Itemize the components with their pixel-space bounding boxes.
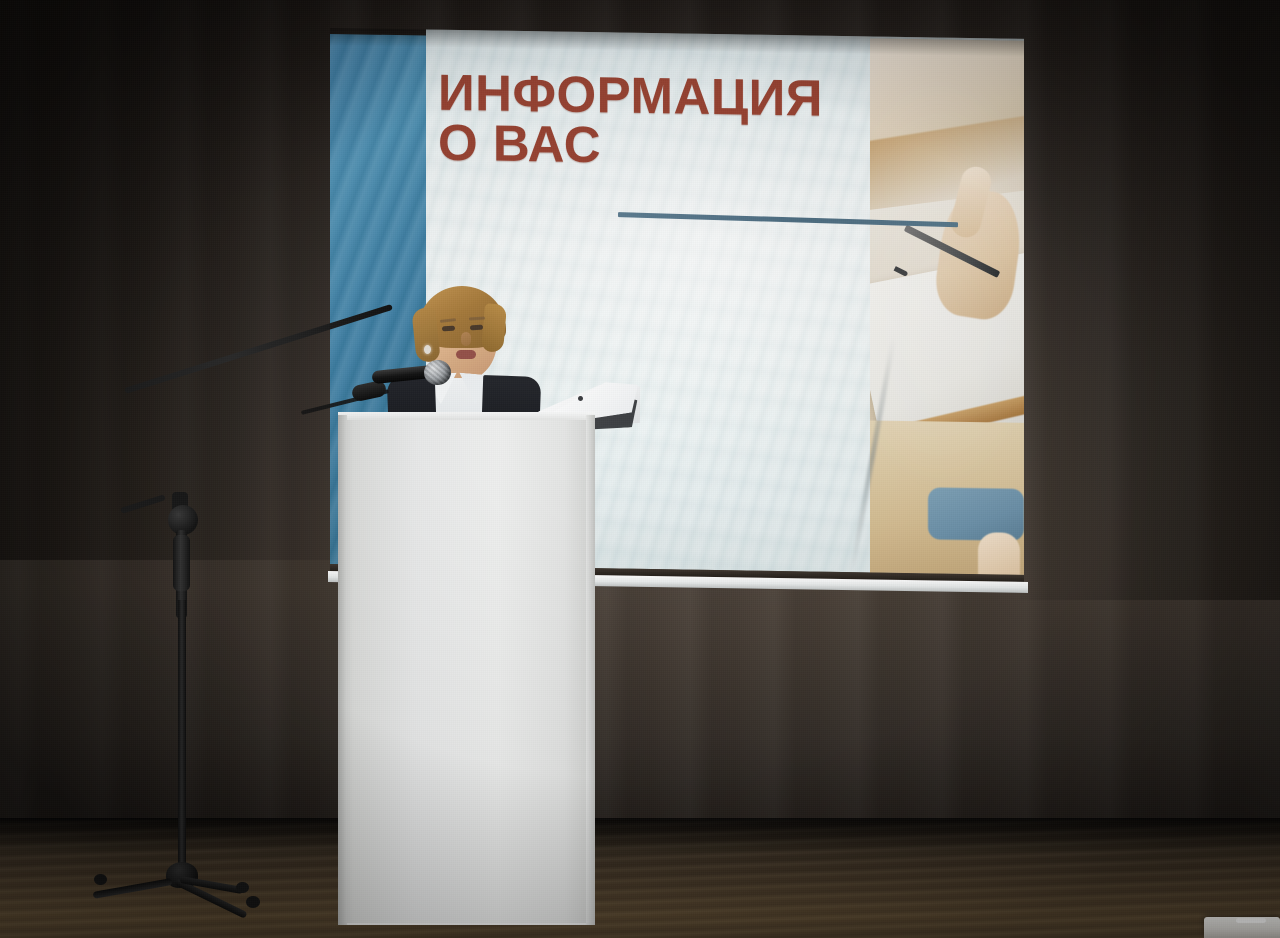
- podium: [338, 415, 595, 925]
- speaker-mouth: [456, 350, 476, 359]
- speaker-figure: [0, 0, 1280, 938]
- podium-top-surface: [338, 412, 595, 420]
- speaker-earring: [424, 345, 431, 354]
- stage-edge-white-box-highlight: [1236, 918, 1266, 923]
- speaker-papers-mark: [578, 396, 583, 401]
- presentation-scene: ИНФОРМАЦИЯ О ВАС: [0, 0, 1280, 938]
- microphone-height-sleeve[interactable]: [173, 535, 190, 591]
- microphone-tripod-foot-a: [246, 896, 260, 908]
- speaker-eye-left: [442, 326, 455, 332]
- speaker-hair-right: [481, 303, 507, 353]
- podium-left-edge: [338, 415, 347, 925]
- speaker-nose: [461, 332, 471, 346]
- microphone-tripod-foot-b: [236, 882, 249, 893]
- microphone-lower-pole[interactable]: [178, 600, 186, 880]
- speaker-eye-right: [470, 325, 483, 331]
- microphone-tripod-foot-c: [94, 874, 107, 885]
- podium-right-edge: [586, 415, 595, 925]
